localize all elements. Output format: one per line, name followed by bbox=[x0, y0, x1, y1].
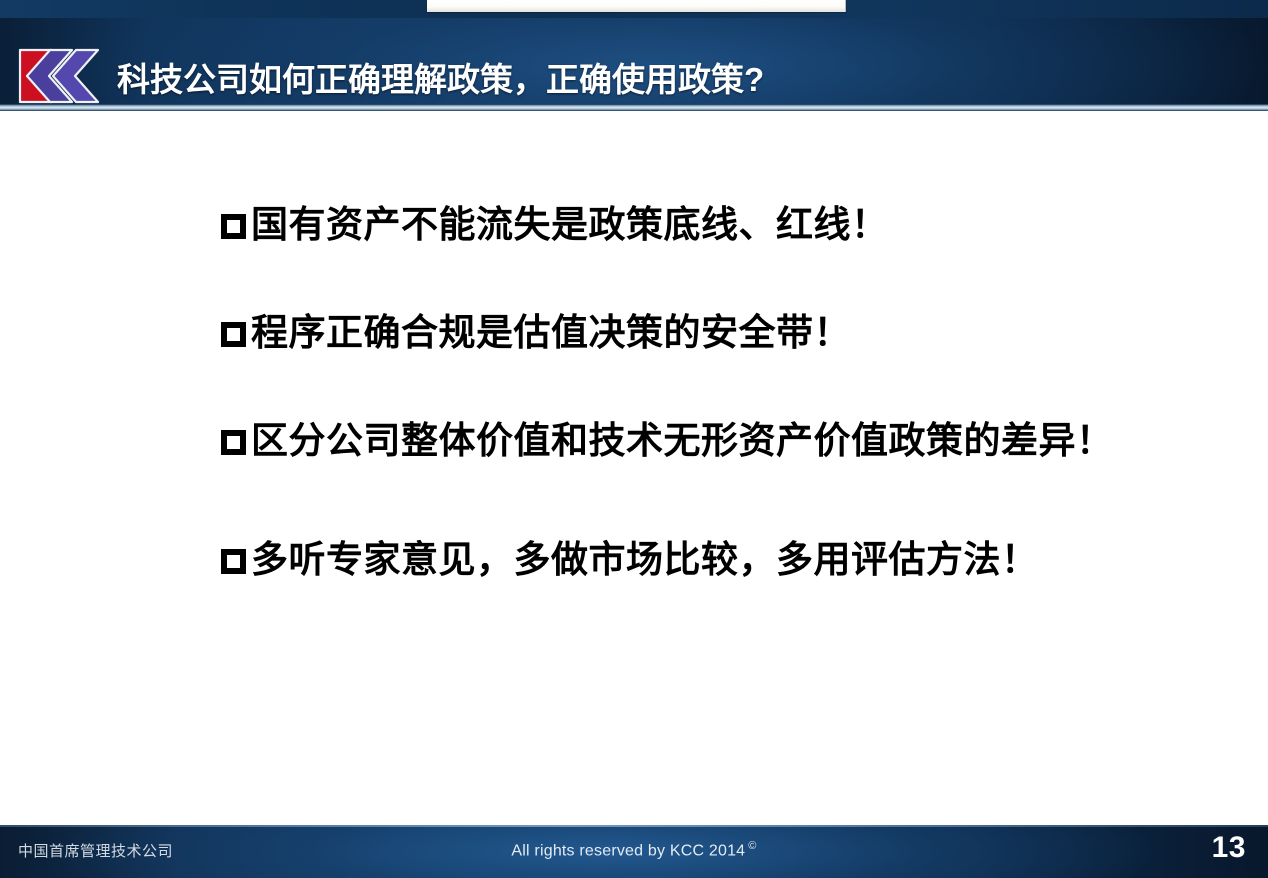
list-item-label: 国有资产不能流失是政策底线、红线！ bbox=[251, 206, 889, 243]
list-item: 多听专家意见，多做市场比较，多用评估方法！ bbox=[221, 541, 1231, 578]
square-bullet-icon bbox=[221, 430, 246, 455]
list-item: 区分公司整体价值和技术无形资产价值政策的差异！ bbox=[221, 422, 1231, 459]
header-underline bbox=[0, 104, 1268, 111]
square-bullet-icon bbox=[221, 214, 246, 239]
slide: 科技公司如何正确理解政策，正确使用政策? 国有资产不能流失是政策底线、红线！ 程… bbox=[0, 0, 1268, 878]
slide-header: 科技公司如何正确理解政策，正确使用政策? bbox=[0, 18, 1268, 110]
square-bullet-icon bbox=[221, 322, 246, 347]
slide-footer: 中国首席管理技术公司 All rights reserved by KCC 20… bbox=[0, 825, 1268, 878]
footer-highlight-line bbox=[0, 825, 1268, 827]
page-number: 13 bbox=[1212, 831, 1246, 865]
footer-copyright-text: All rights reserved by KCC 2014 bbox=[511, 842, 745, 859]
copyright-icon: © bbox=[748, 840, 756, 852]
list-item: 程序正确合规是估值决策的安全带！ bbox=[221, 314, 1231, 351]
list-item: 国有资产不能流失是政策底线、红线！ bbox=[221, 206, 1231, 243]
slide-body: 国有资产不能流失是政策底线、红线！ 程序正确合规是估值决策的安全带！ 区分公司整… bbox=[0, 111, 1268, 821]
square-bullet-icon bbox=[221, 549, 246, 574]
top-white-tab bbox=[427, 0, 846, 12]
list-item-label: 多听专家意见，多做市场比较，多用评估方法！ bbox=[251, 541, 1039, 578]
list-item-label: 区分公司整体价值和技术无形资产价值政策的差异！ bbox=[251, 422, 1114, 459]
footer-copyright: All rights reserved by KCC 2014© bbox=[0, 840, 1268, 860]
kcc-chevron-logo bbox=[16, 48, 112, 104]
page-title: 科技公司如何正确理解政策，正确使用政策? bbox=[117, 56, 1217, 106]
top-strip bbox=[0, 0, 1268, 18]
bullet-list: 国有资产不能流失是政策底线、红线！ 程序正确合规是估值决策的安全带！ 区分公司整… bbox=[221, 206, 1231, 578]
list-item-label: 程序正确合规是估值决策的安全带！ bbox=[251, 314, 851, 351]
